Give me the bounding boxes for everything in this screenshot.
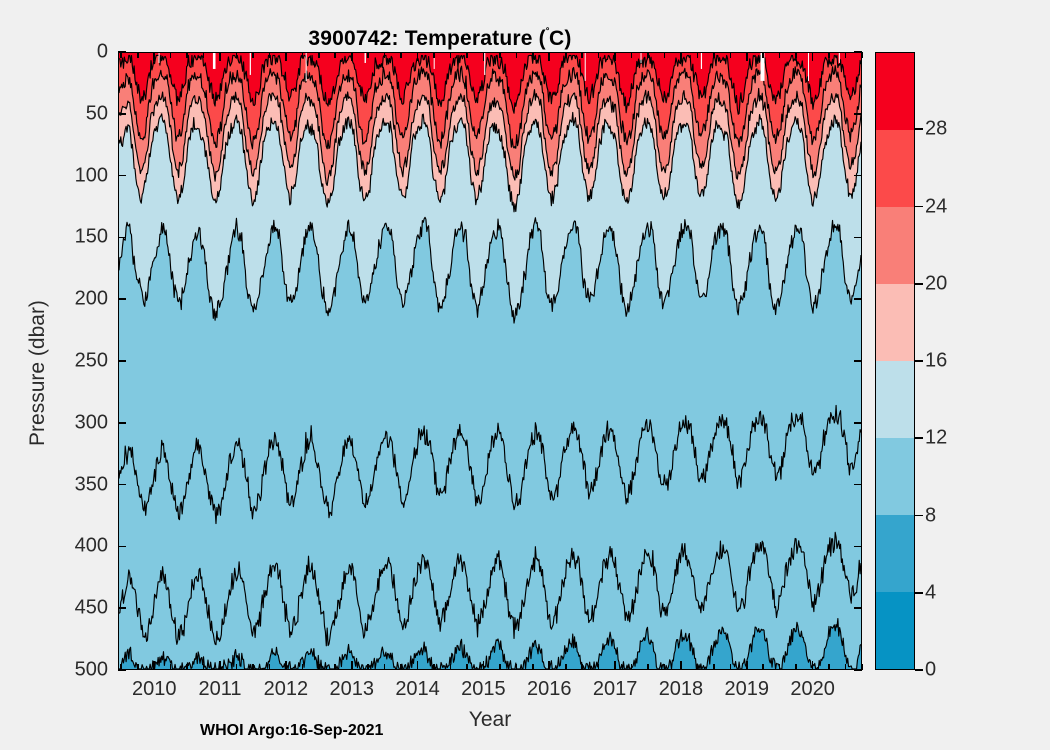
- data-gap: [839, 53, 840, 63]
- colorbar-label-16: 16: [925, 350, 947, 373]
- page-title: 3900742: Temperature (˚C): [0, 26, 880, 51]
- title-main: 3900742: Temperature (: [308, 27, 545, 50]
- y-label-0: 0: [97, 41, 108, 64]
- x-label-2014: 2014: [395, 678, 440, 701]
- colorbar-tick: [915, 515, 923, 517]
- x-label-2015: 2015: [461, 678, 506, 701]
- x-label-2018: 2018: [659, 678, 704, 701]
- x-label-2011: 2011: [199, 678, 242, 701]
- colorbar-label-28: 28: [925, 118, 947, 141]
- contour-plot[interactable]: [118, 52, 862, 670]
- y-axis-title: Pressure (dbar): [26, 243, 50, 503]
- colorbar-tick: [915, 437, 923, 439]
- colorbar-label-24: 24: [925, 195, 947, 218]
- x-label-2020: 2020: [790, 678, 835, 701]
- y-label-50: 50: [86, 102, 108, 125]
- x-label-2010: 2010: [132, 678, 177, 701]
- colorbar-band-24-28: [876, 130, 914, 207]
- y-label-450: 450: [75, 597, 108, 620]
- y-label-350: 350: [75, 473, 108, 496]
- y-label-500: 500: [75, 659, 108, 682]
- data-gap: [434, 53, 435, 69]
- data-gap: [808, 53, 809, 81]
- x-axis-tick-labels: 2010201120122013201420152016201720182019…: [118, 678, 862, 708]
- colorbar-tick: [915, 128, 923, 130]
- colorbar-band-16-20: [876, 284, 914, 361]
- colorbar-tick: [915, 669, 923, 671]
- y-label-250: 250: [75, 350, 108, 373]
- colorbar[interactable]: [875, 52, 915, 670]
- x-label-2017: 2017: [593, 678, 638, 701]
- colorbar-band-4-8: [876, 515, 914, 592]
- colorbar-label-20: 20: [925, 272, 947, 295]
- data-gap: [641, 53, 642, 63]
- colorbar-band-8-12: [876, 438, 914, 515]
- colorbar-band-28-32: [876, 53, 914, 130]
- y-label-400: 400: [75, 535, 108, 558]
- y-label-300: 300: [75, 411, 108, 434]
- colorbar-ticks: [915, 52, 923, 670]
- x-label-2019: 2019: [725, 678, 770, 701]
- data-gap: [213, 53, 216, 69]
- data-gap: [701, 53, 702, 69]
- colorbar-tick: [915, 206, 923, 208]
- colorbar-band-20-24: [876, 207, 914, 284]
- colorbar-tick: [915, 360, 923, 362]
- data-gap: [250, 53, 251, 75]
- data-gap: [159, 53, 160, 63]
- colorbar-tick: [915, 283, 923, 285]
- data-gap: [484, 53, 485, 75]
- data-gap: [585, 53, 586, 81]
- colorbar-band-12-16: [876, 361, 914, 438]
- y-label-200: 200: [75, 288, 108, 311]
- data-gap: [761, 53, 765, 81]
- credit-text: WHOI Argo:16-Sep-2021: [200, 722, 383, 740]
- x-label-2016: 2016: [527, 678, 572, 701]
- x-label-2012: 2012: [264, 678, 309, 701]
- colorbar-label-12: 12: [925, 427, 947, 450]
- colorbar-band-0-4: [876, 592, 914, 669]
- figure-root: 3900742: Temperature (˚C) 05010015020025…: [0, 0, 1050, 750]
- y-label-150: 150: [75, 226, 108, 249]
- colorbar-tick: [915, 592, 923, 594]
- x-label-2013: 2013: [329, 678, 374, 701]
- colorbar-label-4: 4: [925, 581, 936, 604]
- colorbar-label-0: 0: [925, 659, 936, 682]
- title-tail: C): [549, 27, 572, 50]
- data-gap: [365, 53, 366, 63]
- colorbar-tick-labels: 0481216202428: [925, 52, 995, 670]
- contour-canvas: [119, 53, 861, 669]
- y-label-100: 100: [75, 164, 108, 187]
- data-gap: [306, 53, 307, 81]
- colorbar-label-8: 8: [925, 504, 936, 527]
